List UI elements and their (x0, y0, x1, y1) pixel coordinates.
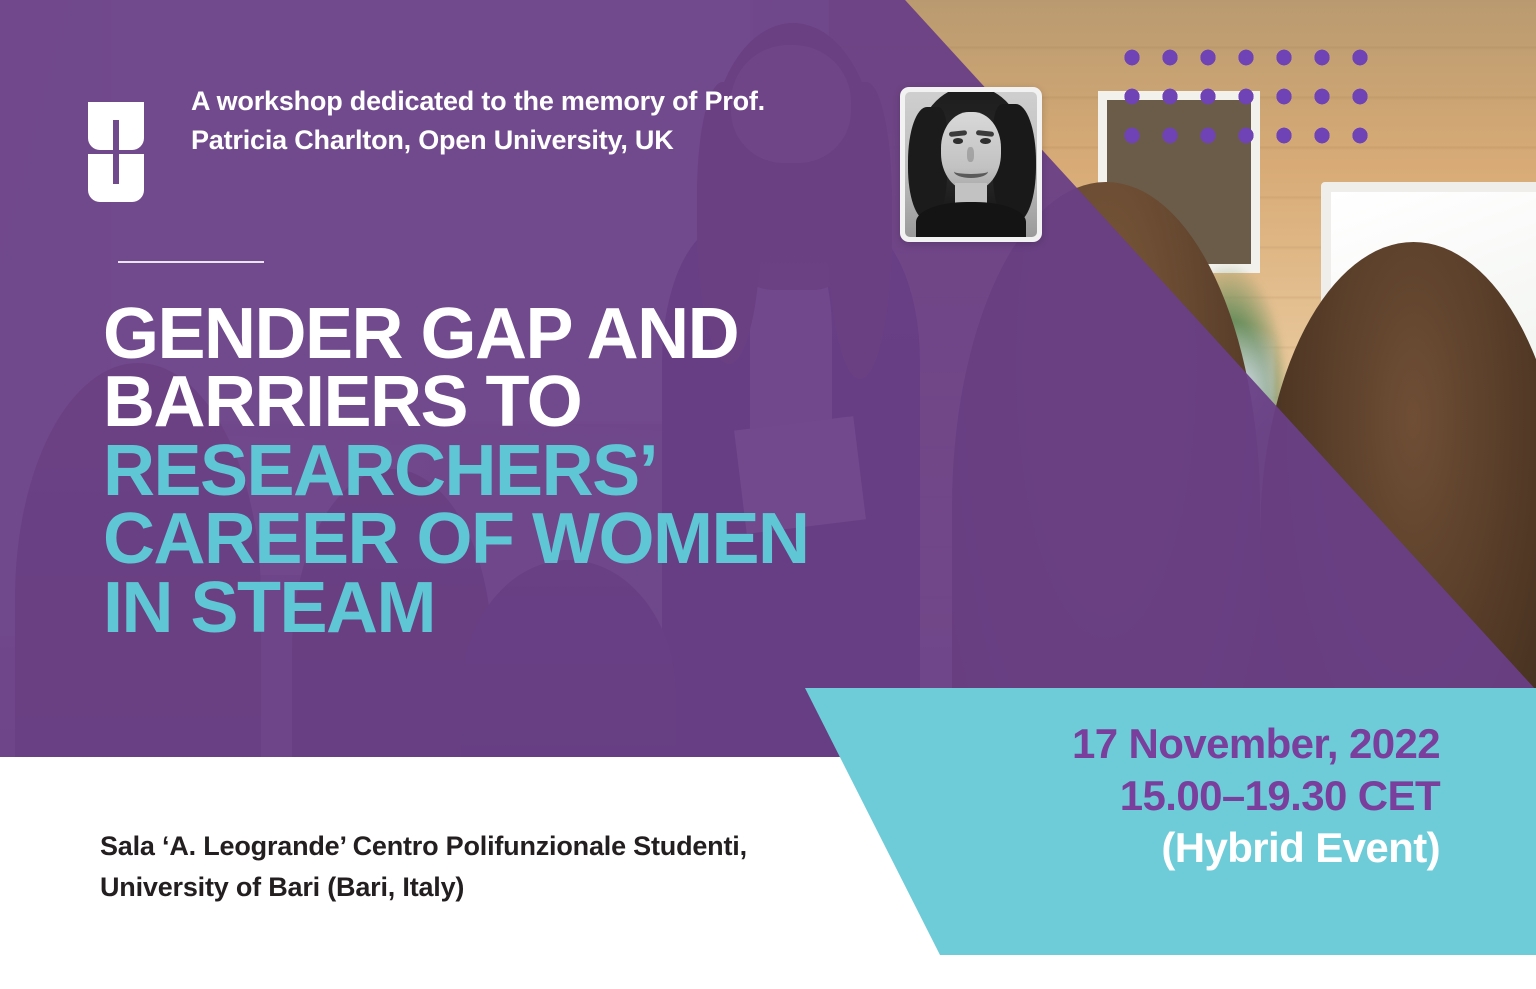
portrait-clothing (916, 202, 1027, 237)
title-line-3: RESEARCHERS’ (103, 437, 1083, 505)
portrait-nose (967, 147, 974, 162)
title-line-1: GENDER GAP AND (103, 300, 1083, 368)
butterfly-logo-icon (86, 100, 146, 204)
workshop-subtitle: A workshop dedicated to the memory of Pr… (191, 82, 851, 159)
portrait-smile (954, 165, 988, 178)
divider-rule (118, 261, 264, 263)
event-date: 17 November, 2022 (930, 718, 1440, 770)
date-time-block: 17 November, 2022 15.00–19.30 CET (Hybri… (930, 718, 1440, 874)
title-line-2: BARRIERS TO (103, 368, 1083, 436)
event-format: (Hybrid Event) (930, 822, 1440, 874)
title-line-5: IN STEAM (103, 574, 1083, 642)
portrait-photo (900, 87, 1042, 242)
portrait-image (905, 92, 1037, 237)
title-line-4: CAREER OF WOMEN (103, 505, 1083, 573)
venue-text: Sala ‘A. Leogrande’ Centro Polifunzional… (100, 826, 800, 908)
event-time: 15.00–19.30 CET (930, 770, 1440, 822)
event-poster: A workshop dedicated to the memory of Pr… (0, 0, 1536, 989)
purple-dot-grid-icon (1113, 38, 1381, 162)
page-title: GENDER GAP AND BARRIERS TO RESEARCHERS’ … (103, 300, 1083, 642)
